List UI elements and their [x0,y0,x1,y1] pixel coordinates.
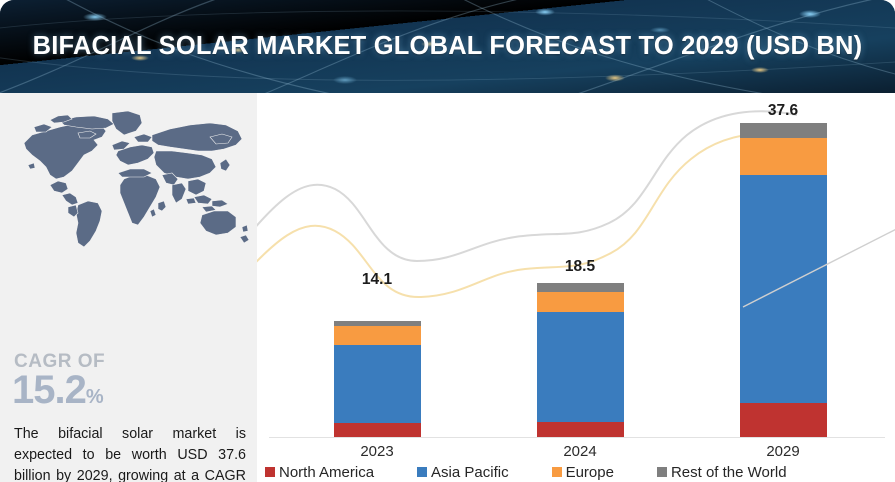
legend-label-north-america: North America [279,464,374,481]
market-description: The bifacial solar market is expected to… [14,424,246,482]
legend-swatch-rest-of-the-world [657,467,667,477]
legend-swatch-europe [552,467,562,477]
legend-item-asia-pacific[interactable]: Asia Pacific [417,464,509,481]
chart-area: 14.1 2023 18.5 2024 37.6 2029 15.2% [257,93,895,482]
cagr-number: 15.2 [12,368,86,412]
legend-swatch-asia-pacific [417,467,427,477]
legend-item-europe[interactable]: Europe [552,464,614,481]
chart-legend: North America Asia Pacific Europe Rest o… [257,462,895,482]
callout-connector-line [257,93,895,482]
legend-label-asia-pacific: Asia Pacific [431,464,509,481]
legend-swatch-north-america [265,467,275,477]
header-banner: BIFACIAL SOLAR MARKET GLOBAL FORECAST TO… [0,0,895,93]
cagr-percent-symbol: % [86,386,103,408]
page-title: BIFACIAL SOLAR MARKET GLOBAL FORECAST TO… [0,0,895,93]
infographic-root: BIFACIAL SOLAR MARKET GLOBAL FORECAST TO… [0,0,895,482]
world-map-svg [6,107,254,253]
legend-label-europe: Europe [566,464,614,481]
legend-item-north-america[interactable]: North America [265,464,374,481]
left-info-panel: CAGR OF 15.2% The bifacial solar market … [0,93,257,482]
legend-label-rest-of-the-world: Rest of the World [671,464,787,481]
world-map-icon [6,107,254,253]
cagr-value: 15.2% [12,368,103,419]
legend-item-rest-of-the-world[interactable]: Rest of the World [657,464,787,481]
